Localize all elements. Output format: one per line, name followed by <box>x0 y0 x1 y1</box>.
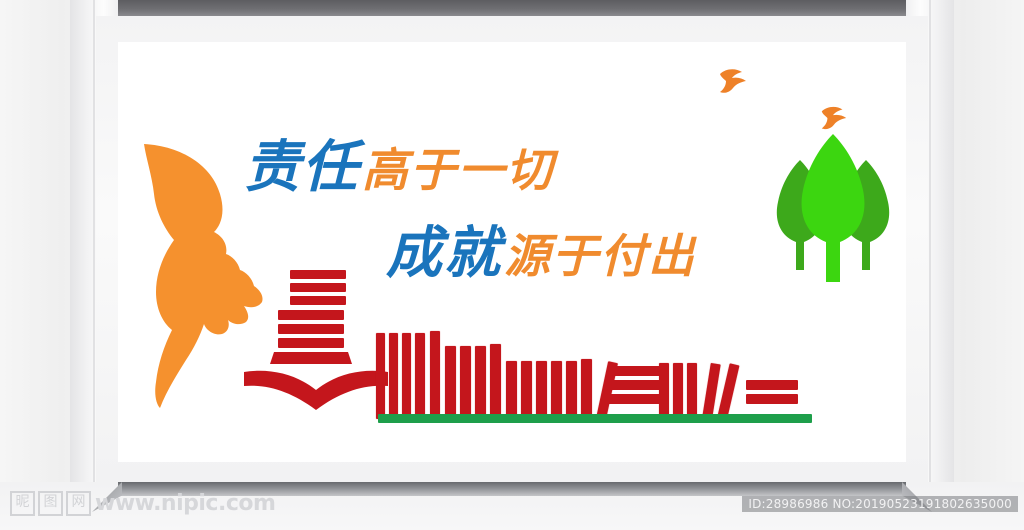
headline-line1-seg-1: 高于一切 <box>362 147 554 193</box>
book-spine <box>460 346 471 419</box>
watermark-left: 昵 图 网 www.nipic.com <box>10 491 275 516</box>
flying-bird-icon <box>716 64 750 98</box>
book-spine <box>490 344 501 419</box>
book-spine <box>521 361 532 419</box>
stacked-books-and-open-book-icon <box>242 264 392 414</box>
book-horizontal <box>607 394 664 404</box>
artwork-canvas: 责任 高于一切 成就 源于付出 <box>118 42 906 462</box>
watermark-logo-char-0: 昵 <box>10 491 35 516</box>
wall-edge-right <box>929 0 931 530</box>
book-horizontal <box>746 394 798 404</box>
headline-line2-seg-0: 成就 <box>386 226 502 282</box>
shelf-line <box>378 414 812 423</box>
book-spine <box>376 333 385 419</box>
book-spine <box>389 333 398 419</box>
watermark-logo-char-1: 图 <box>38 491 63 516</box>
book-horizontal <box>607 380 664 390</box>
book-spine <box>566 361 577 419</box>
ceiling-edge <box>88 0 936 16</box>
watermark-id: ID:28986986 NO:20190523191802635000 <box>742 496 1018 512</box>
headline-line-2: 成就 源于付出 <box>386 226 696 282</box>
book-spine <box>415 333 425 419</box>
book-spine <box>717 363 739 420</box>
flying-bird-icon <box>818 102 850 134</box>
watermark-logo: 昵 图 网 <box>10 491 91 516</box>
wall-edge-left <box>93 0 95 530</box>
book-spine <box>551 361 562 419</box>
book-spine <box>506 361 517 419</box>
book-spine <box>581 359 592 419</box>
headline-line1-seg-0: 责任 <box>244 140 360 196</box>
book-horizontal <box>612 366 664 376</box>
watermark-url: www.nipic.com <box>95 491 275 516</box>
row-of-book-spines-icon <box>376 322 816 427</box>
book-spine <box>402 333 411 419</box>
headline-line2-seg-1: 源于付出 <box>504 233 696 279</box>
book-horizontal <box>746 380 798 390</box>
book-spine <box>475 346 486 419</box>
watermark-logo-char-2: 网 <box>66 491 91 516</box>
book-spine <box>536 361 547 419</box>
book-spine <box>430 331 440 419</box>
headline-line-1: 责任 高于一切 <box>244 140 554 196</box>
book-spine <box>687 363 697 419</box>
book-spine <box>673 363 683 419</box>
book-spine <box>445 346 456 419</box>
screenshot-root: 责任 高于一切 成就 源于付出 昵 图 网 www.nipic.com ID:2… <box>0 0 1024 530</box>
